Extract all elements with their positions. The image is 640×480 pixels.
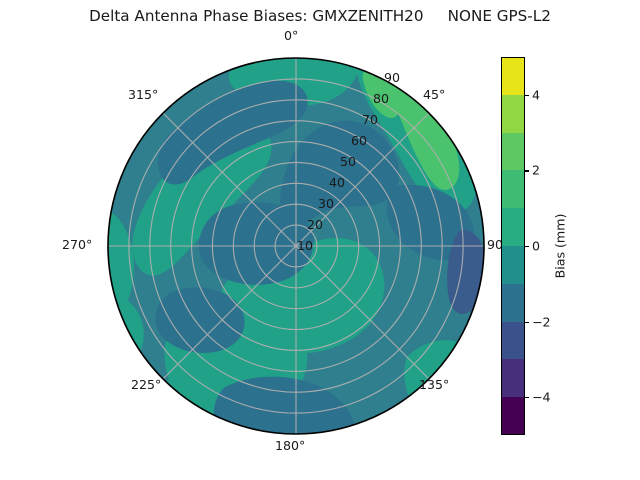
colorbar-tick-mark	[525, 170, 529, 171]
colorbar-band	[501, 322, 525, 360]
angular-tick-0: 0°	[284, 30, 298, 43]
radial-tick-50: 50	[340, 156, 356, 169]
chart-title: Delta Antenna Phase Biases: GMXZENITH20 …	[0, 7, 640, 25]
angular-tick-45: 45°	[423, 89, 445, 102]
colorbar-band	[501, 397, 525, 435]
colorbar-band	[501, 208, 525, 246]
colorbar-tick-mark	[525, 246, 529, 247]
radial-tick-30: 30	[318, 198, 334, 211]
colorbar-tick-mark	[525, 95, 529, 96]
colorbar-tick-label: −2	[532, 314, 551, 329]
angular-tick-270: 270°	[62, 239, 92, 252]
radial-tick-40: 40	[329, 177, 345, 190]
radial-tick-10: 10	[297, 240, 313, 253]
radial-tick-80: 80	[373, 93, 389, 106]
colorbar-band	[501, 133, 525, 171]
radial-tick-20: 20	[307, 219, 323, 232]
colorbar-band	[501, 95, 525, 133]
colorbar-band	[501, 170, 525, 208]
colorbar-tick-mark	[525, 397, 529, 398]
colorbar-tick-label: 2	[532, 163, 540, 178]
colorbar-bands	[501, 57, 525, 435]
colorbar-tick-label: 4	[532, 87, 540, 102]
colorbar-axis-label: Bias (mm)	[553, 214, 568, 279]
radial-tick-60: 60	[351, 135, 367, 148]
angular-tick-225: 225°	[131, 379, 161, 392]
radial-tick-70: 70	[362, 114, 378, 127]
figure-canvas: Delta Antenna Phase Biases: GMXZENITH20 …	[0, 0, 640, 480]
colorbar-tick-label: −4	[532, 390, 551, 405]
colorbar-band	[501, 359, 525, 397]
angular-tick-315: 315°	[128, 89, 158, 102]
colorbar-tick-label: 0	[532, 239, 540, 254]
angular-tick-135: 135°	[419, 379, 449, 392]
colorbar-tick-mark	[525, 322, 529, 323]
colorbar-band	[501, 57, 525, 95]
colorbar[interactable]	[501, 57, 525, 435]
colorbar-band	[501, 284, 525, 322]
radial-tick-90: 90	[384, 72, 400, 85]
angular-tick-180: 180°	[275, 440, 305, 453]
colorbar-band	[501, 246, 525, 284]
